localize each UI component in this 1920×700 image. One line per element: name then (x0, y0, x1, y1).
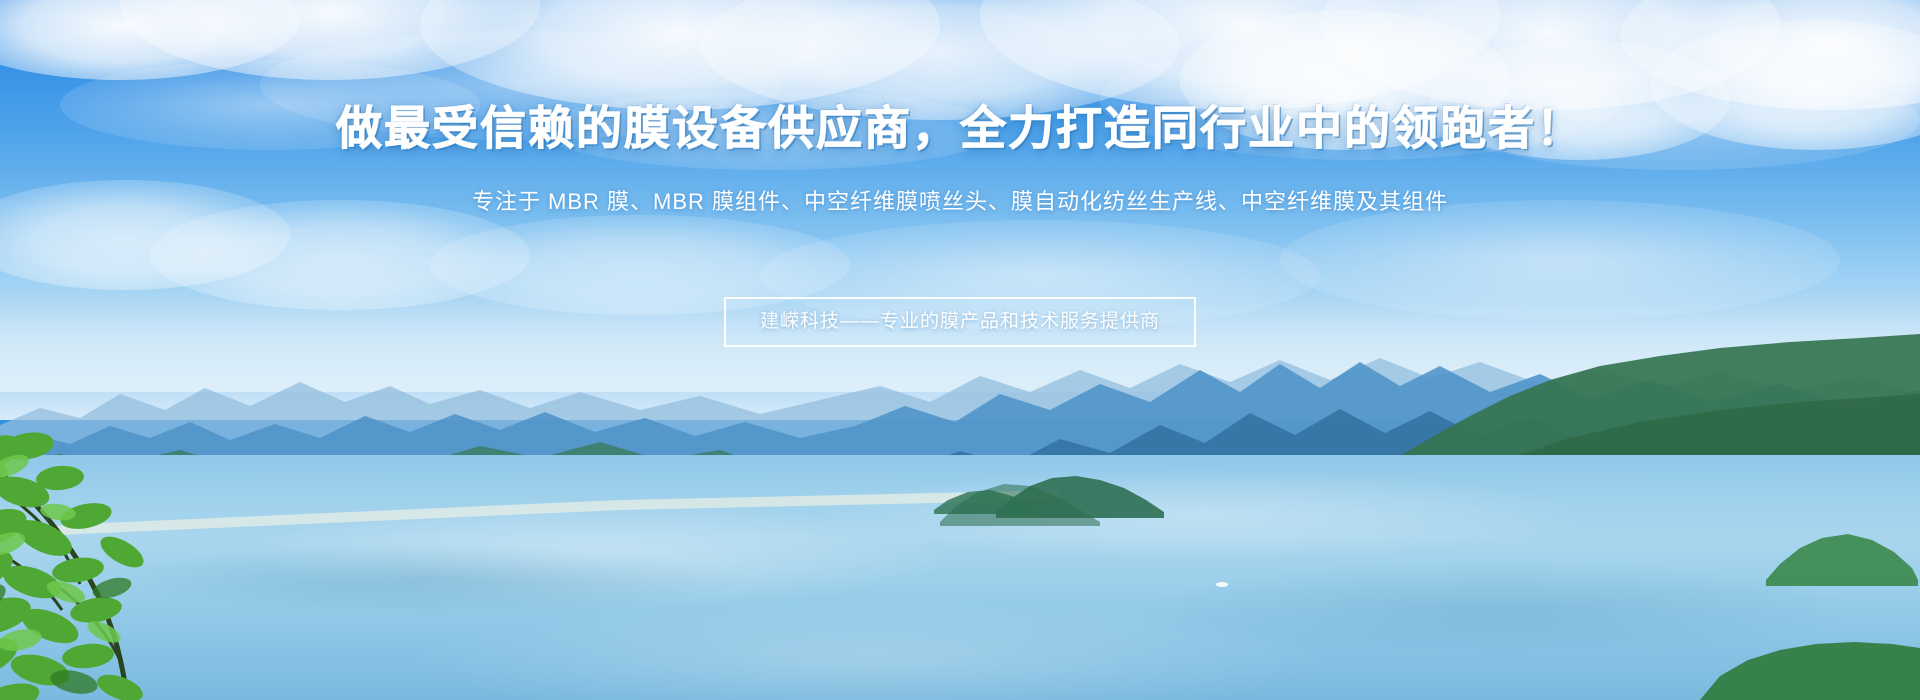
tagline-badge: 建嵘科技——专业的膜产品和技术服务提供商 (724, 297, 1196, 347)
subtitle: 专注于 MBR 膜、MBR 膜组件、中空纤维膜喷丝头、膜自动化纺丝生产线、中空纤… (0, 186, 1920, 218)
tagline-container: 建嵘科技——专业的膜产品和技术服务提供商 (0, 297, 1920, 347)
hero-banner: 做最受信赖的膜设备供应商，全力打造同行业中的领跑者！ 专注于 MBR 膜、MBR… (0, 0, 1920, 700)
text-overlay: 做最受信赖的膜设备供应商，全力打造同行业中的领跑者！ 专注于 MBR 膜、MBR… (0, 0, 1920, 700)
page-title: 做最受信赖的膜设备供应商，全力打造同行业中的领跑者！ (0, 98, 1920, 158)
